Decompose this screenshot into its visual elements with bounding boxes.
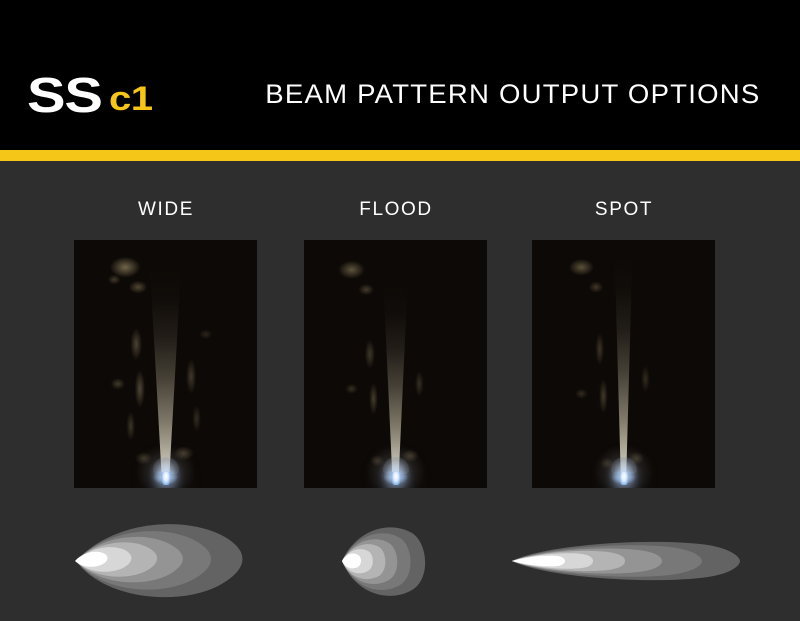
page-title: BEAM PATTERN OUTPUT OPTIONS [265,79,760,110]
header-bar: SSc1 BEAM PATTERN OUTPUT OPTIONS [0,0,800,150]
beam-option-flood: FLOOD [276,161,516,621]
logo-text-primary: SS [27,72,102,121]
beam-lobe-group [512,542,740,580]
light-source [391,472,400,485]
night-road-photo-spot [532,240,715,488]
light-source [619,472,628,485]
beam-option-wide: WIDE [46,161,286,621]
light-source [161,472,170,485]
roadside-detail [74,240,257,488]
night-road-photo-flood [304,240,487,488]
accent-divider [0,150,800,161]
beam-option-label-flood: FLOOD [276,199,516,221]
beam-pattern-flood [276,507,516,611]
night-road-photo-wide [74,240,257,488]
beam-lobe-group [75,524,242,597]
beam-options-grid: WIDE [0,161,800,621]
beam-pattern-poster: SSc1 BEAM PATTERN OUTPUT OPTIONS WIDE [0,0,800,621]
beam-option-label-spot: SPOT [504,199,744,221]
roadside-detail [304,240,487,488]
beam-pattern-wide [46,507,286,611]
brand-logo: SSc1 [27,72,146,121]
logo-text-secondary: c1 [109,82,152,116]
beam-lobe-group [342,527,425,596]
beam-option-spot: SPOT [504,161,744,621]
beam-pattern-spot [504,507,744,611]
roadside-detail [532,240,715,488]
beam-lobe-1 [512,556,565,567]
beam-option-label-wide: WIDE [46,199,286,221]
